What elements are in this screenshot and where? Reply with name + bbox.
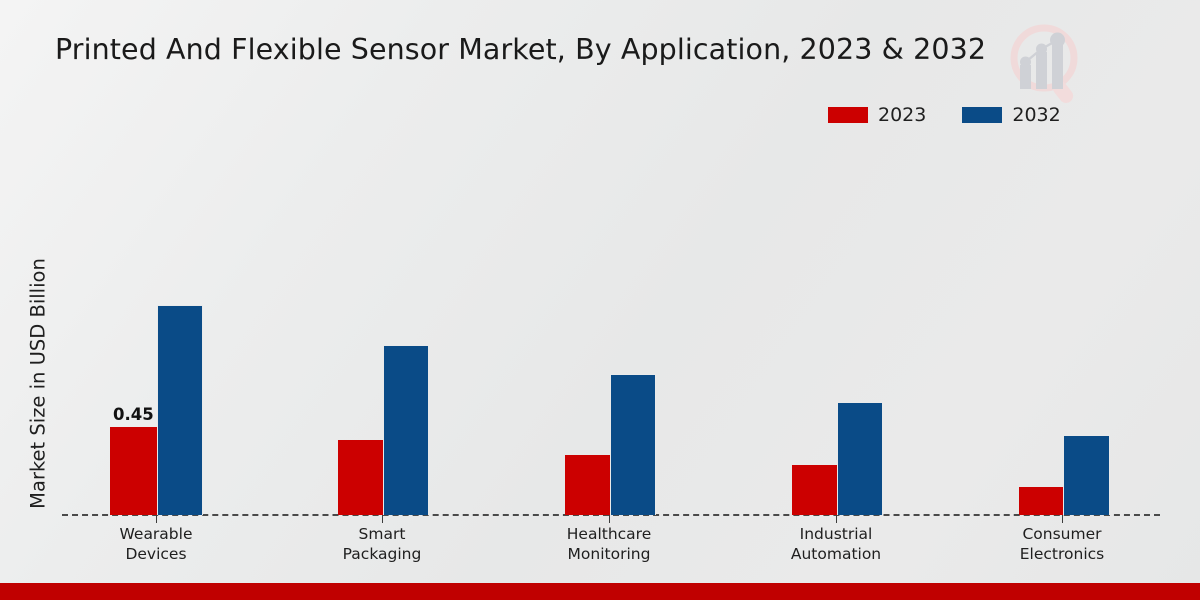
bar-2023-wearable-devices[interactable] bbox=[110, 427, 157, 515]
bar-2032-consumer-electronics[interactable] bbox=[1063, 435, 1110, 515]
bar-2023-industrial-automation[interactable] bbox=[792, 465, 837, 515]
x-label-line2: Packaging bbox=[343, 545, 422, 563]
x-label-line2: Devices bbox=[125, 545, 186, 563]
x-label-smart-packaging: Smart Packaging bbox=[272, 524, 492, 564]
plot-area: 0.45 Wearable Devices Smart Packaging He… bbox=[0, 0, 1200, 600]
x-tick-healthcare-monitoring bbox=[609, 515, 610, 523]
bottom-accent-band bbox=[0, 583, 1200, 600]
x-label-wearable-devices: Wearable Devices bbox=[46, 524, 266, 564]
x-label-line1: Consumer bbox=[1022, 525, 1101, 543]
x-label-healthcare-monitoring: Healthcare Monitoring bbox=[499, 524, 719, 564]
bar-2023-healthcare-monitoring[interactable] bbox=[565, 455, 610, 515]
bar-value-label-2023-wearable-devices: 0.45 bbox=[113, 405, 154, 424]
x-label-line1: Healthcare bbox=[567, 525, 652, 543]
x-label-consumer-electronics: Consumer Electronics bbox=[952, 524, 1172, 564]
x-label-line1: Industrial bbox=[800, 525, 873, 543]
x-tick-consumer-electronics bbox=[1062, 515, 1063, 523]
bar-2023-smart-packaging[interactable] bbox=[338, 440, 383, 515]
x-label-industrial-automation: Industrial Automation bbox=[726, 524, 946, 564]
bar-2023-consumer-electronics[interactable] bbox=[1019, 487, 1063, 515]
x-label-line2: Automation bbox=[791, 545, 881, 563]
x-tick-wearable-devices bbox=[156, 515, 157, 523]
bar-2032-smart-packaging[interactable] bbox=[383, 345, 429, 515]
x-tick-smart-packaging bbox=[382, 515, 383, 523]
x-label-line1: Smart bbox=[359, 525, 406, 543]
x-label-line2: Monitoring bbox=[568, 545, 651, 563]
bar-2032-wearable-devices[interactable] bbox=[157, 305, 203, 515]
bar-2032-healthcare-monitoring[interactable] bbox=[610, 374, 656, 515]
x-label-line1: Wearable bbox=[119, 525, 192, 543]
x-label-line2: Electronics bbox=[1020, 545, 1104, 563]
bar-2032-industrial-automation[interactable] bbox=[837, 402, 883, 515]
chart-page: Printed And Flexible Sensor Market, By A… bbox=[0, 0, 1200, 600]
x-tick-industrial-automation bbox=[836, 515, 837, 523]
